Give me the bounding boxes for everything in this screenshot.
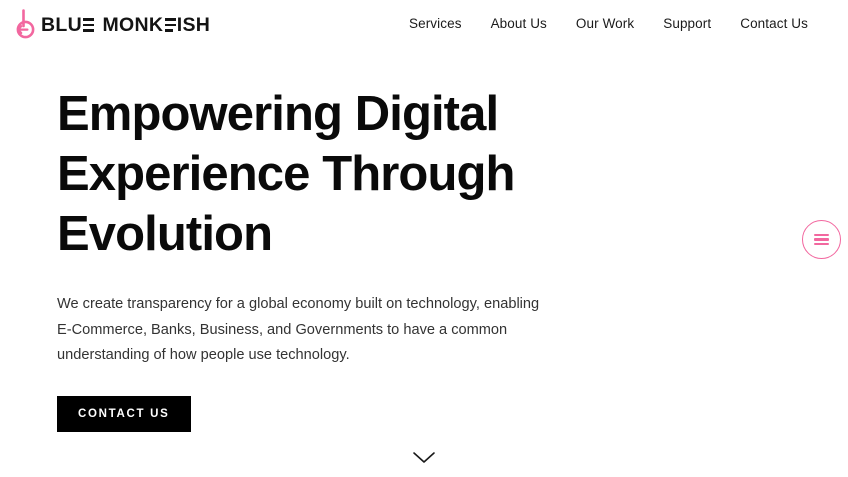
hero-paragraph: We create transparency for a global econ… xyxy=(57,292,557,369)
nav-item-services[interactable]: Services xyxy=(409,16,462,31)
hero-heading: Empowering Digital Experience Through Ev… xyxy=(57,84,617,264)
monkfish-b-logo-icon xyxy=(14,9,40,39)
brand-logo-link[interactable]: BLU MONK ISH xyxy=(14,7,210,39)
three-bar-f-glyph-icon xyxy=(165,18,176,32)
hamburger-icon xyxy=(814,234,829,245)
scroll-down-button[interactable] xyxy=(411,448,437,468)
main-navigation: Services About Us Our Work Support Conta… xyxy=(409,0,808,46)
brand-word-blue-part: BLU xyxy=(41,16,82,36)
contact-us-button[interactable]: CONTACT US xyxy=(57,396,191,433)
page-root: BLU MONK ISH Services About Us Our Work … xyxy=(0,0,848,477)
brand-word-monk-suffix: ISH xyxy=(177,16,210,36)
brand-wordmark: BLU MONK ISH xyxy=(41,16,210,36)
nav-item-contact-us[interactable]: Contact Us xyxy=(740,16,808,31)
chevron-down-icon xyxy=(411,448,437,468)
brand-word-monk-prefix: MONK xyxy=(102,16,163,36)
nav-item-about-us[interactable]: About Us xyxy=(491,16,547,31)
site-header: BLU MONK ISH Services About Us Our Work … xyxy=(0,0,848,46)
three-bar-e-glyph-icon xyxy=(83,18,94,32)
nav-item-our-work[interactable]: Our Work xyxy=(576,16,634,31)
nav-item-support[interactable]: Support xyxy=(663,16,711,31)
hero-section: Empowering Digital Experience Through Ev… xyxy=(57,84,677,432)
floating-menu-button[interactable] xyxy=(802,220,841,259)
